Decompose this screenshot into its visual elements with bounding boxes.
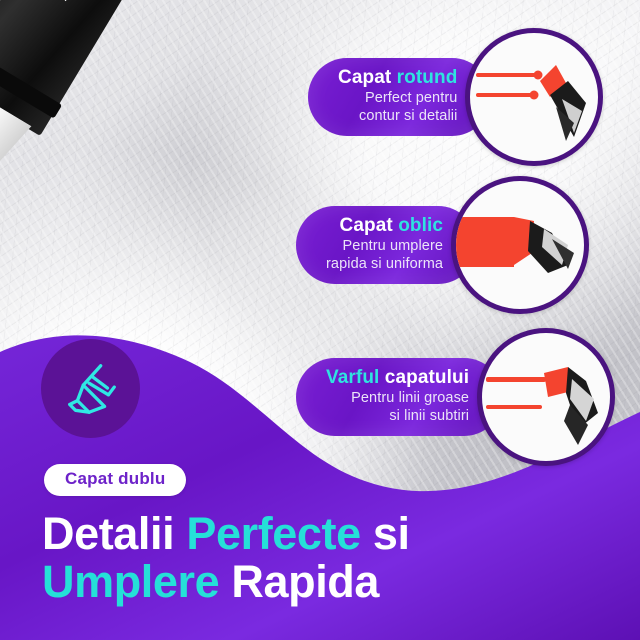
feature-title-3-highlight: Varful (326, 367, 385, 388)
feature-pill-2: Capat oblic Pentru umplere rapida si uni… (296, 206, 477, 285)
marker-fine-cap (0, 0, 195, 136)
feature-card-round-tip[interactable]: Capat rotund Perfect pentru contur si de… (308, 28, 603, 166)
highlighter-marker-icon (60, 358, 122, 420)
feature-card-chisel-tip[interactable]: Capat oblic Pentru umplere rapida si uni… (296, 176, 589, 314)
tag-label: Capat dublu (65, 469, 165, 488)
chisel-tip-illustration-icon (451, 176, 589, 314)
feature-desc-1-line2: contur si detalii (338, 107, 457, 125)
feature-card-broad-tip[interactable]: Varful capatului Pentru linii groase si … (296, 328, 615, 466)
headline-line1-accent: Perfecte (186, 508, 360, 559)
broad-tip-illustration-icon (477, 328, 615, 466)
feature-desc-2-line2: rapida si uniforma (326, 255, 443, 273)
headline: Detalii Perfecte si Umplere Rapida (42, 510, 410, 605)
feature-title-3: Varful capatului (326, 367, 469, 389)
feature-title-1: Capat rotund (338, 67, 457, 89)
round-tip-illustration-icon (465, 28, 603, 166)
tag-capat-dublu: Capat dublu (44, 464, 186, 496)
feature-title-2: Capat oblic (326, 215, 443, 237)
feature-desc-1-line1: Perfect pentru (338, 89, 457, 107)
marker-fine: FINE (0, 0, 195, 247)
feature-desc-2-line1: Pentru umplere (326, 237, 443, 255)
headline-line-2: Umplere Rapida (42, 558, 410, 606)
headline-line2-accent: Umplere (42, 556, 219, 607)
headline-line-1: Detalii Perfecte si (42, 510, 410, 558)
feature-title-1-plain: Capat (338, 67, 397, 88)
headline-line1-part1: Detalii (42, 508, 186, 559)
dual-tip-badge (41, 339, 140, 438)
feature-title-3-plain: capatului (385, 367, 469, 388)
feature-title-2-plain: Capat (340, 215, 399, 236)
feature-pill-3: Varful capatului Pentru linii groase si … (296, 358, 503, 437)
feature-desc-3-line1: Pentru linii groase (326, 389, 469, 407)
feature-title-1-highlight: rotund (397, 67, 458, 88)
headline-line1-part2: si (361, 508, 410, 559)
feature-desc-3-line2: si linii subtiri (326, 407, 469, 425)
promo-poster: BROAD FINE Capat rotund Perf (0, 0, 640, 640)
feature-pill-1: Capat rotund Perfect pentru contur si de… (308, 58, 491, 137)
feature-title-2-highlight: oblic (398, 215, 443, 236)
headline-line2-part2: Rapida (219, 556, 379, 607)
